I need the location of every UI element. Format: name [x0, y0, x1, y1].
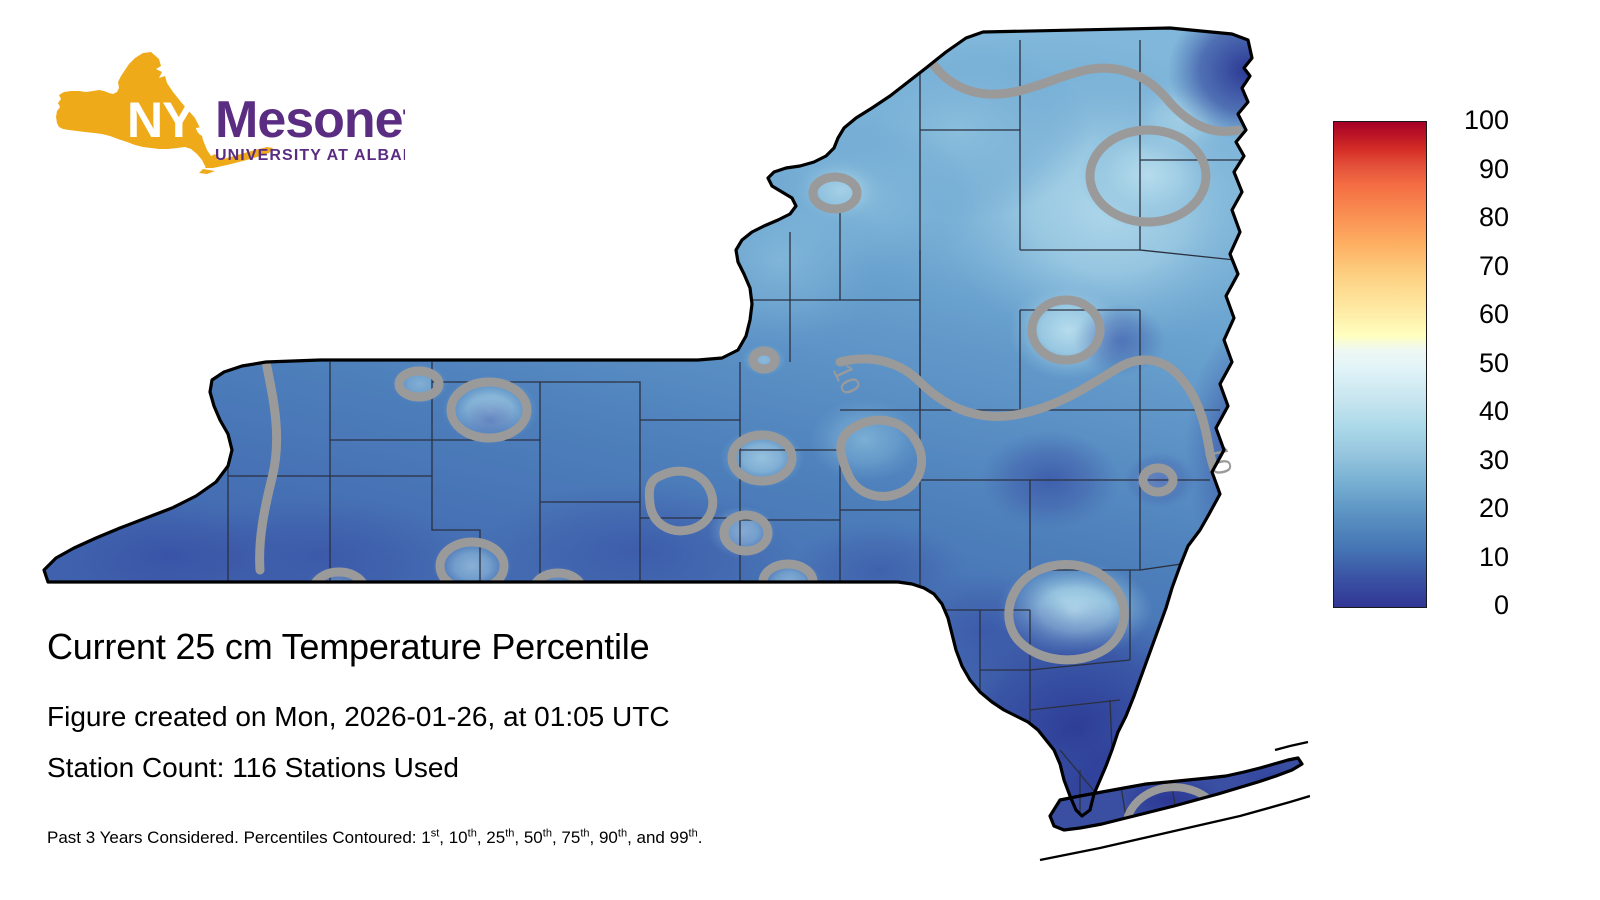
- footnote-item: 75th,: [561, 828, 599, 847]
- footnote-item: 1st,: [421, 828, 448, 847]
- colorbar-tick-30: 30: [1437, 447, 1509, 474]
- contour-footnote: Past 3 Years Considered. Percentiles Con…: [47, 828, 702, 848]
- footnote-item: 90th, and: [599, 828, 670, 847]
- colorbar-tick-80: 80: [1437, 204, 1509, 231]
- colorbar-tick-100: 100: [1437, 107, 1509, 134]
- footnote-prefix: Past 3 Years Considered. Percentiles Con…: [47, 828, 421, 847]
- colorbar-tick-90: 90: [1437, 156, 1509, 183]
- page-title: Current 25 cm Temperature Percentile: [47, 627, 649, 667]
- colorbar-tick-40: 40: [1437, 398, 1509, 425]
- figure-created-text: Figure created on Mon, 2026-01-26, at 01…: [47, 701, 670, 733]
- colorbar-tick-20: 20: [1437, 495, 1509, 522]
- station-count-text: Station Count: 116 Stations Used: [47, 752, 459, 784]
- percentile-colorbar: 100 90 80 70 60 50 40 30 20 10 0: [1333, 121, 1427, 608]
- colorbar-tick-70: 70: [1437, 253, 1509, 280]
- colorbar-tick-10: 10: [1437, 544, 1509, 571]
- footnote-item: 10th,: [449, 828, 487, 847]
- colorbar-gradient: [1333, 121, 1427, 608]
- colorbar-tick-50: 50: [1437, 350, 1509, 377]
- footnote-item: 99th.: [670, 828, 703, 847]
- colorbar-tick-60: 60: [1437, 301, 1509, 328]
- footnote-item: 50th,: [524, 828, 562, 847]
- footnote-item: 25th,: [486, 828, 524, 847]
- colorbar-tick-0: 0: [1437, 592, 1509, 619]
